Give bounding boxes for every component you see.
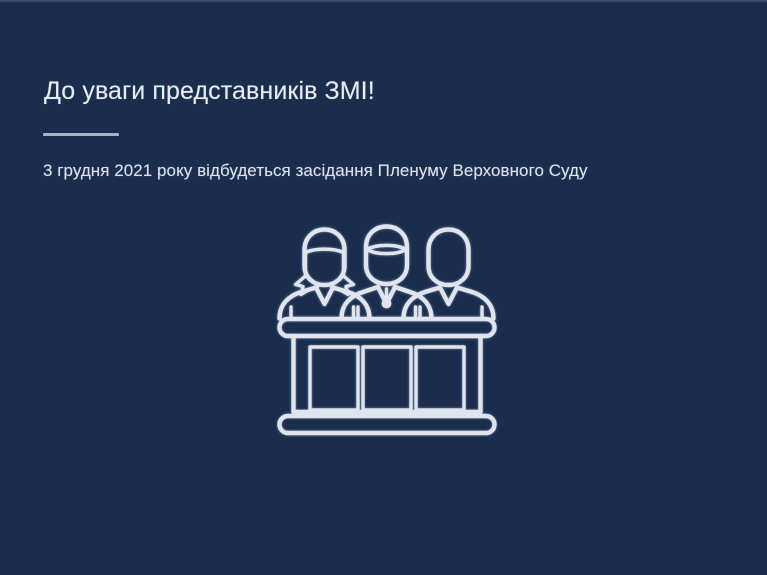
page-title: До уваги представників ЗМІ! <box>44 76 375 106</box>
bench-panel-center <box>363 347 411 410</box>
judge-figure-right <box>404 230 494 319</box>
media-announcement-banner: До уваги представників ЗМІ! 3 грудня 202… <box>0 0 767 575</box>
three-judges-bench-icon <box>277 218 497 442</box>
title-divider <box>43 133 119 136</box>
judge-figure-center <box>342 227 432 319</box>
bench-panel-left <box>310 347 358 410</box>
announcement-subtitle: 3 грудня 2021 року відбудеться засідання… <box>43 159 588 182</box>
judges-bench <box>280 319 495 433</box>
judge-figure-left <box>280 230 370 319</box>
bench-panel-right <box>416 347 464 410</box>
